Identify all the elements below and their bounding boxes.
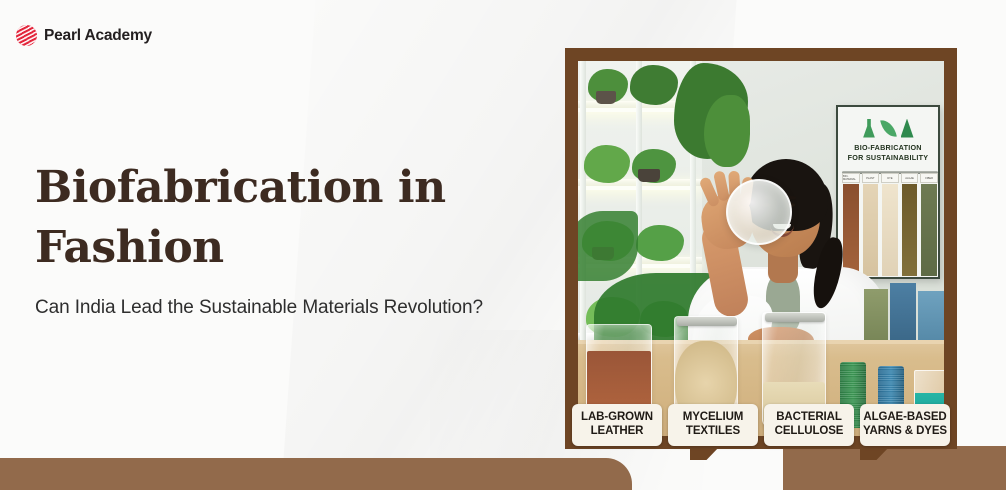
caption-line2: CELLULOSE	[775, 425, 844, 439]
page-title: Biofabrication in Fashion	[35, 158, 515, 278]
swatch-label: FIBER	[920, 173, 938, 183]
caption-notch	[690, 446, 720, 460]
caption-line2: TEXTILES	[686, 425, 740, 439]
caption-chip-lab-grown-leather[interactable]: LAB-GROWN LEATHER	[572, 404, 662, 446]
caption-line1: BACTERIAL	[776, 411, 842, 425]
caption-line1: MYCELIUM	[683, 411, 744, 425]
triangle-icon	[901, 119, 914, 138]
page-subtitle: Can India Lead the Sustainable Materials…	[35, 297, 575, 319]
striped-circle-logo-icon	[16, 25, 37, 46]
caption-line2: LEATHER	[591, 425, 644, 439]
caption-line1: ALGAE-BASED	[863, 411, 946, 425]
caption-line1: LAB-GROWN	[581, 411, 653, 425]
caption-chip-bacterial-cellulose[interactable]: BACTERIAL CELLULOSE	[764, 404, 854, 446]
caption-chip-mycelium-textiles[interactable]: MYCELIUM TEXTILES	[668, 404, 758, 446]
swatch-label: ALGAE	[901, 173, 919, 183]
caption-line2: YARNS & DYES	[863, 425, 947, 439]
caption-chip-list: LAB-GROWN LEATHER MYCELIUM TEXTILES BACT…	[572, 404, 950, 446]
brand-name: Pearl Academy	[44, 27, 152, 45]
petri-dish	[726, 179, 792, 245]
right-brown-block	[783, 446, 1006, 490]
slide-canvas: Pearl Academy Biofabrication in Fashion …	[0, 0, 1006, 490]
brand-logo[interactable]: Pearl Academy	[16, 25, 152, 46]
bottom-brown-band	[0, 458, 632, 490]
photo-image: BIO-FABRICATION FOR SUSTAINABILITY BIO-M…	[578, 61, 944, 436]
caption-chip-algae-based-yarns-dyes[interactable]: ALGAE-BASED YARNS & DYES	[860, 404, 950, 446]
photo-frame: BIO-FABRICATION FOR SUSTAINABILITY BIO-M…	[565, 48, 957, 449]
